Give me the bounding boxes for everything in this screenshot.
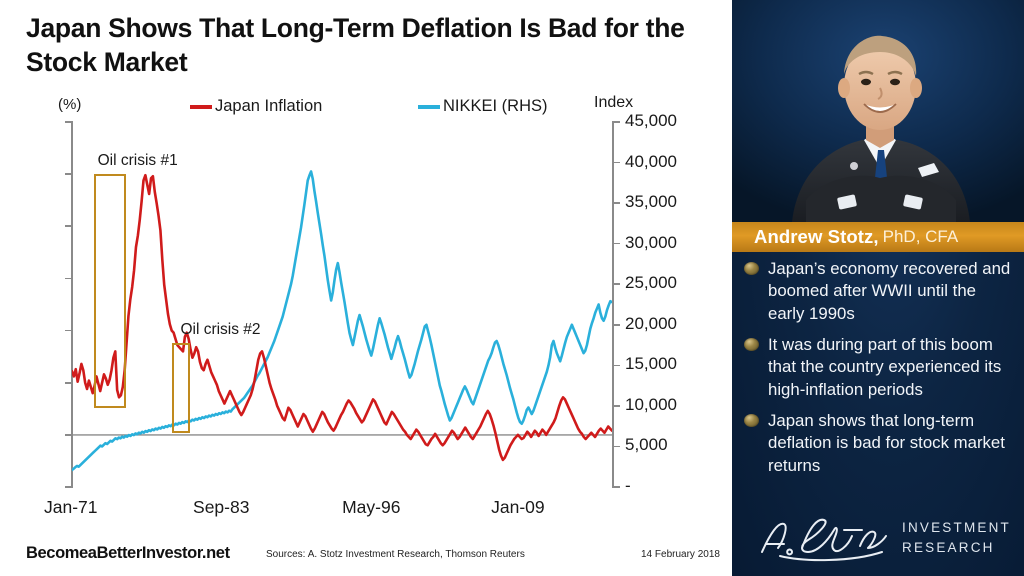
y-tick-left (65, 486, 72, 488)
legend-label-inflation: Japan Inflation (215, 97, 322, 116)
y-tick-left (65, 278, 72, 280)
company-logo: INVESTMENT RESEARCH (732, 510, 1024, 568)
y-tick-right (613, 486, 620, 488)
plot-canvas (72, 122, 612, 487)
profile-credentials: PhD, CFA (883, 227, 959, 247)
page-title: Japan Shows That Long-Term Deflation Is … (26, 12, 702, 80)
logo-wordmark: INVESTMENT RESEARCH (902, 518, 1011, 559)
profile-name: Andrew Stotz, (754, 226, 879, 248)
y-tick-right (613, 405, 620, 407)
y-tick-label-right: 35,000 (625, 192, 677, 212)
footer-sources: Sources: A. Stotz Investment Research, T… (266, 549, 525, 560)
legend-item-inflation: Japan Inflation (190, 97, 322, 116)
legend-label-nikkei: NIKKEI (RHS) (443, 97, 548, 116)
y-axis-unit-right: Index (594, 94, 633, 112)
y-tick-left (65, 225, 72, 227)
y-tick-right (613, 121, 620, 123)
list-item: Japan’s economy recovered and boomed aft… (732, 258, 1024, 325)
bullet-list: Japan’s economy recovered and boomed aft… (732, 258, 1024, 486)
signature-logo-icon (756, 512, 896, 564)
avatar (732, 0, 1024, 222)
y-tick-left (65, 434, 72, 436)
y-axis-unit-left: (%) (58, 96, 81, 113)
annotation-label: Oil crisis #1 (98, 152, 178, 170)
portrait-illustration-icon (732, 0, 1024, 222)
slide-root: Japan Shows That Long-Term Deflation Is … (0, 0, 1024, 576)
logo-line-2: RESEARCH (902, 538, 1011, 558)
legend-item-nikkei: NIKKEI (RHS) (418, 97, 548, 116)
x-tick-label: Jan-71 (44, 497, 98, 518)
y-tick-label-right: 45,000 (625, 111, 677, 131)
list-item-text: It was during part of this boom that the… (768, 335, 1001, 399)
y-tick-label-right: 20,000 (625, 314, 677, 334)
list-item-text: Japan’s economy recovered and boomed aft… (768, 259, 1010, 323)
series-line-inflation (72, 175, 612, 460)
bullet-dot-icon (744, 262, 759, 275)
y-tick-left (65, 330, 72, 332)
chart-area: Japan Shows That Long-Term Deflation Is … (0, 0, 732, 576)
y-tick-left (65, 173, 72, 175)
y-tick-label-right: 40,000 (625, 152, 677, 172)
logo-line-1: INVESTMENT (902, 518, 1011, 538)
legend-swatch-nikkei-icon (418, 105, 440, 109)
annotation-box (94, 174, 126, 408)
bullet-dot-icon (744, 338, 759, 351)
list-item: Japan shows that long-term deflation is … (732, 410, 1024, 477)
legend-swatch-inflation-icon (190, 105, 212, 109)
profile-panel: Andrew Stotz, PhD, CFA Japan’s economy r… (732, 0, 1024, 576)
y-axis-right-spine (612, 121, 614, 488)
name-banner: Andrew Stotz, PhD, CFA (732, 222, 1024, 252)
annotation-box (172, 343, 189, 433)
chart-legend: Japan Inflation NIKKEI (RHS) (56, 97, 656, 121)
x-tick-label: Jan-09 (491, 497, 545, 518)
y-tick-label-right: 30,000 (625, 233, 677, 253)
y-tick-right (613, 202, 620, 204)
y-tick-right (613, 324, 620, 326)
y-tick-right (613, 162, 620, 164)
bullet-dot-icon (744, 414, 759, 427)
y-tick-right (613, 283, 620, 285)
y-tick-label-right: 15,000 (625, 354, 677, 374)
series-svg (72, 122, 612, 487)
y-tick-right (613, 446, 620, 448)
y-tick-left (65, 382, 72, 384)
y-tick-label-right: 5,000 (625, 435, 668, 455)
y-tick-left (65, 121, 72, 123)
footer-date: 14 February 2018 (641, 549, 720, 560)
x-tick-label: Sep-83 (193, 497, 249, 518)
annotation-label: Oil crisis #2 (180, 321, 260, 339)
list-item-text: Japan shows that long-term deflation is … (768, 411, 1005, 475)
y-tick-label-right: 10,000 (625, 395, 677, 415)
x-tick-label: May-96 (342, 497, 400, 518)
y-tick-right (613, 243, 620, 245)
list-item: It was during part of this boom that the… (732, 334, 1024, 401)
series-line-nikkei (72, 171, 612, 469)
y-tick-right (613, 365, 620, 367)
y-tick-label-right: 25,000 (625, 273, 677, 293)
footer-brand[interactable]: BecomeaBetterInvestor.net (26, 544, 230, 563)
y-tick-label-right: - (625, 476, 631, 496)
